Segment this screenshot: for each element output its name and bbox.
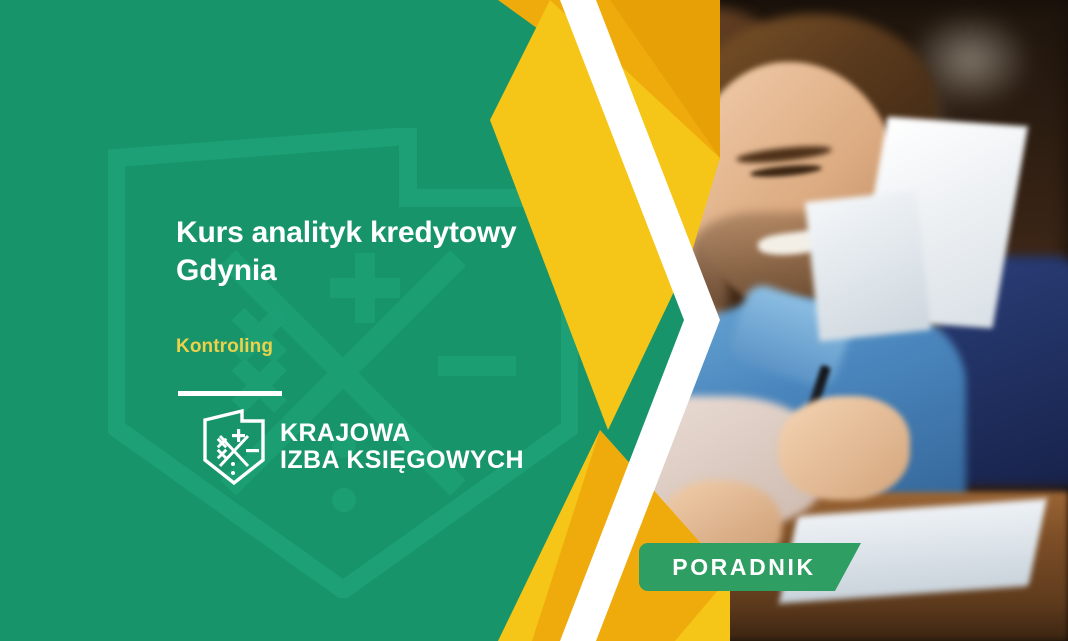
photo-document-second (805, 191, 931, 342)
promo-banner: Kurs analityk kredytowyGdynia Kontroling (0, 0, 1068, 641)
category-label: Kontroling (176, 336, 273, 358)
poradnik-badge[interactable]: PORADNIK (639, 543, 861, 591)
brand-logo-line-1: KRAJOWA (280, 420, 524, 447)
poradnik-badge-label: PORADNIK (672, 554, 827, 581)
headline-block: Kurs analityk kredytowyGdynia (176, 214, 576, 291)
page-title-line-1: Kurs analityk kredytowy (176, 216, 517, 249)
shield-logo-icon (202, 408, 266, 486)
photo-hand-writing (778, 396, 910, 500)
page-title: Kurs analityk kredytowyGdynia (176, 214, 576, 291)
brand-logo[interactable]: KRAJOWA IZBA KSIĘGOWYCH (202, 408, 524, 486)
brand-logo-wordmark: KRAJOWA IZBA KSIĘGOWYCH (280, 420, 524, 474)
title-divider (178, 391, 282, 396)
page-title-line-2: Gdynia (176, 254, 277, 287)
brand-logo-line-2: IZBA KSIĘGOWYCH (280, 447, 524, 474)
